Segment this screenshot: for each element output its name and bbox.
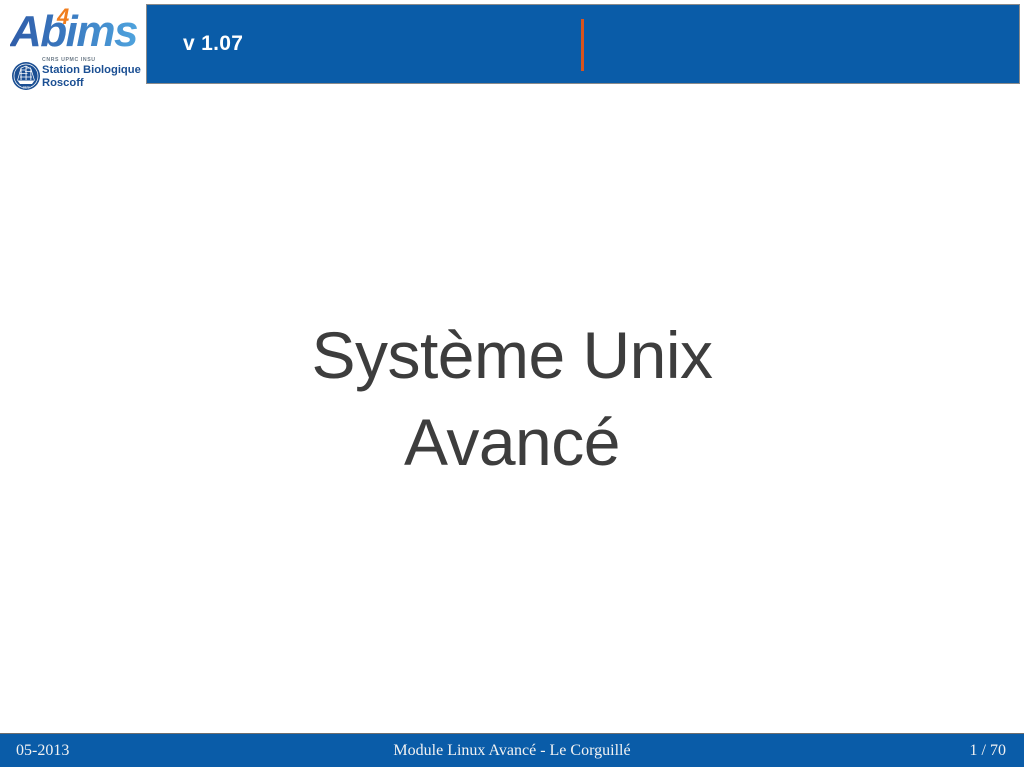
abims-wordmark-icon: Abims 4	[10, 4, 142, 56]
svg-text:4: 4	[56, 4, 69, 29]
slide-header-band: v 1.07	[146, 4, 1020, 84]
svg-text:1872: 1872	[22, 85, 29, 89]
page-title-line-2: Avancé	[404, 405, 620, 479]
footer-module-label: Module Linux Avancé - Le Corguillé	[0, 742, 1024, 760]
version-label: v 1.07	[183, 32, 243, 56]
station-biologique-seal-icon: 1872	[11, 61, 41, 91]
orange-accent-rule	[581, 19, 584, 71]
logo-institute-text: CNRS UPMC INSU Station Biologique Roscof…	[42, 57, 144, 90]
footer-content: 05-2013 Module Linux Avancé - Le Corguil…	[0, 734, 1024, 768]
footer-page-number: 1 / 70	[970, 742, 1006, 760]
slide-footer-band: 05-2013 Module Linux Avancé - Le Corguil…	[0, 733, 1024, 767]
logo-institute-line-2: Roscoff	[42, 77, 144, 90]
logo-agencies-line: CNRS UPMC INSU	[42, 57, 144, 64]
logo-institute-line-1: Station Biologique	[42, 64, 144, 77]
page-title: Système Unix Avancé	[232, 312, 792, 486]
svg-text:Abims: Abims	[10, 7, 137, 56]
page-title-line-1: Système Unix	[311, 318, 712, 392]
slide-canvas: Abims 4 1872 CNRS UPMC INSU Station Biol…	[0, 0, 1024, 767]
abims-logo: Abims 4 1872 CNRS UPMC INSU Station Biol…	[4, 2, 144, 95]
title-area: Système Unix Avancé	[0, 96, 1024, 730]
